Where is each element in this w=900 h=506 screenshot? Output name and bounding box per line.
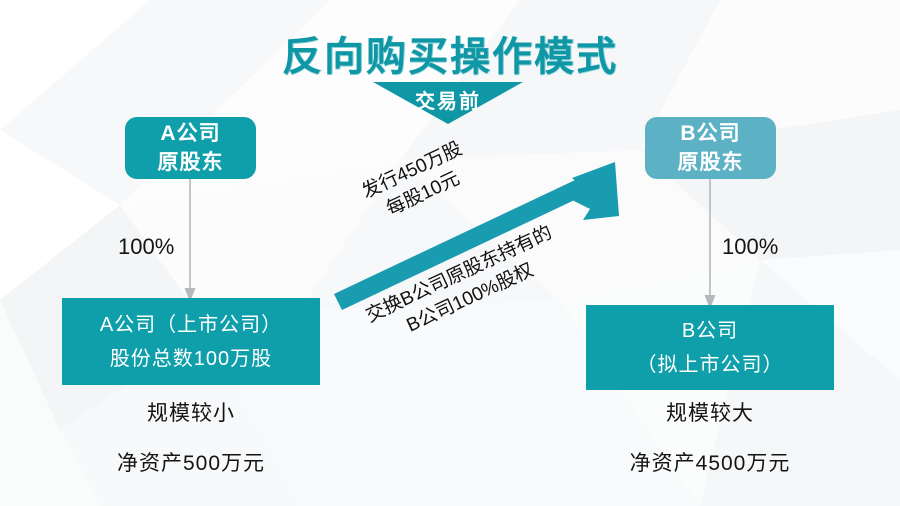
right-caption-scale: 规模较大 <box>586 397 834 427</box>
left-company-box: A公司（上市公司） 股份总数100万股 <box>62 298 320 385</box>
right-company-line2: （拟上市公司） <box>637 348 784 382</box>
right-company-box: B公司 （拟上市公司） <box>586 305 834 390</box>
right-caption-net-assets: 净资产4500万元 <box>566 447 854 477</box>
right-shareholder-line1: B公司 <box>680 119 740 148</box>
right-shareholder-box: B公司 原股东 <box>645 117 776 179</box>
left-company-line1: A公司（上市公司） <box>100 308 282 342</box>
page-title: 反向购买操作模式 <box>0 24 900 82</box>
left-ownership-percent: 100% <box>118 234 174 260</box>
right-shareholder-line2: 原股东 <box>678 148 744 177</box>
left-shareholder-box: A公司 原股东 <box>125 117 256 179</box>
left-shareholder-line2: 原股东 <box>158 148 224 177</box>
left-caption-net-assets: 净资产500万元 <box>42 447 340 477</box>
right-ownership-arrow <box>698 178 722 311</box>
stage-banner-label: 交易前 <box>373 85 523 114</box>
slide-canvas: 反向购买操作模式 交易前 A公司 原股东 B公司 原股东 100% 100% 发… <box>0 0 900 506</box>
left-ownership-arrow <box>178 178 202 304</box>
right-ownership-percent: 100% <box>722 234 778 260</box>
stage-banner: 交易前 <box>373 82 523 124</box>
left-shareholder-line1: A公司 <box>160 119 220 148</box>
left-caption-scale: 规模较小 <box>62 397 320 427</box>
right-company-line1: B公司 <box>682 314 738 348</box>
left-company-line2: 股份总数100万股 <box>110 342 272 376</box>
